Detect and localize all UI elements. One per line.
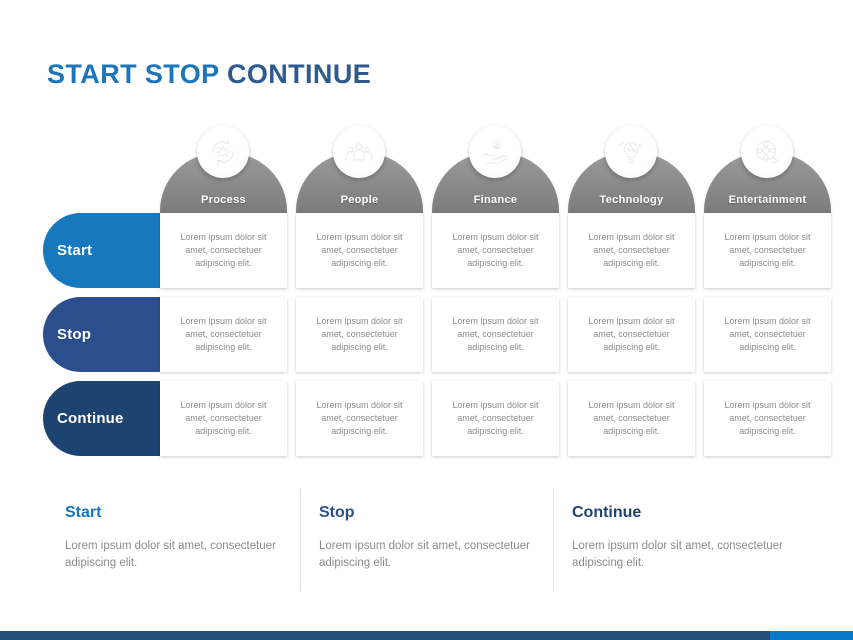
matrix-body: Lorem ipsum dolor sit amet, consectetuer…	[160, 213, 831, 465]
footer-bar-main	[0, 631, 770, 640]
matrix-cell[interactable]: Lorem ipsum dolor sit amet, consectetuer…	[160, 381, 287, 456]
matrix-cell[interactable]: Lorem ipsum dolor sit amet, consectetuer…	[160, 297, 287, 372]
page-title-part-2: CONTINUE	[227, 59, 371, 89]
footer-bar-accent	[770, 631, 853, 640]
matrix-cell-text: Lorem ipsum dolor sit amet, consectetuer…	[715, 231, 820, 270]
summary-column-start: Start Lorem ipsum dolor sit amet, consec…	[47, 490, 300, 590]
matrix-cell[interactable]: Lorem ipsum dolor sit amet, consectetuer…	[568, 381, 695, 456]
matrix-row-stop: Lorem ipsum dolor sit amet, consectetuer…	[160, 297, 831, 372]
matrix-cell-text: Lorem ipsum dolor sit amet, consectetuer…	[715, 315, 820, 354]
row-label-stop[interactable]: Stop	[43, 297, 160, 372]
row-label-start[interactable]: Start	[43, 213, 160, 288]
summary-heading: Continue	[572, 504, 784, 522]
matrix-cell-text: Lorem ipsum dolor sit amet, consectetuer…	[171, 231, 276, 270]
matrix-cell-text: Lorem ipsum dolor sit amet, consectetuer…	[307, 315, 412, 354]
film-reel-icon	[741, 126, 793, 178]
row-label-text: Start	[57, 242, 92, 259]
matrix-cell[interactable]: Lorem ipsum dolor sit amet, consectetuer…	[568, 297, 695, 372]
column-header-label: Finance	[432, 194, 559, 206]
matrix-cell-text: Lorem ipsum dolor sit amet, consectetuer…	[307, 231, 412, 270]
matrix-cell[interactable]: Lorem ipsum dolor sit amet, consectetuer…	[432, 213, 559, 288]
footer-bar	[0, 631, 853, 640]
summary-body: Lorem ipsum dolor sit amet, consectetuer…	[65, 538, 278, 571]
row-label-text: Continue	[57, 410, 124, 427]
matrix-cell[interactable]: Lorem ipsum dolor sit amet, consectetuer…	[432, 297, 559, 372]
row-label-column: Start Stop Continue	[43, 213, 160, 465]
matrix-cell[interactable]: Lorem ipsum dolor sit amet, consectetuer…	[432, 381, 559, 456]
column-header-label: People	[296, 194, 423, 206]
matrix-cell-text: Lorem ipsum dolor sit amet, consectetuer…	[307, 399, 412, 438]
matrix-cell[interactable]: Lorem ipsum dolor sit amet, consectetuer…	[704, 213, 831, 288]
hand-coin-icon	[469, 126, 521, 178]
summary-heading: Start	[65, 504, 278, 522]
column-header-label: Technology	[568, 194, 695, 206]
matrix-cell[interactable]: Lorem ipsum dolor sit amet, consectetuer…	[160, 213, 287, 288]
page-title: START STOP CONTINUE	[47, 59, 371, 90]
matrix-cell-text: Lorem ipsum dolor sit amet, consectetuer…	[443, 399, 548, 438]
row-label-text: Stop	[57, 326, 91, 343]
matrix-row-start: Lorem ipsum dolor sit amet, consectetuer…	[160, 213, 831, 288]
gear-refresh-icon	[197, 126, 249, 178]
matrix-cell-text: Lorem ipsum dolor sit amet, consectetuer…	[443, 315, 548, 354]
row-label-continue[interactable]: Continue	[43, 381, 160, 456]
matrix-cell[interactable]: Lorem ipsum dolor sit amet, consectetuer…	[296, 297, 423, 372]
summary-section: Start Lorem ipsum dolor sit amet, consec…	[47, 490, 807, 590]
matrix-row-continue: Lorem ipsum dolor sit amet, consectetuer…	[160, 381, 831, 456]
summary-column-continue: Continue Lorem ipsum dolor sit amet, con…	[553, 490, 806, 590]
page-title-part-1: START STOP	[47, 59, 227, 89]
summary-body: Lorem ipsum dolor sit amet, consectetuer…	[572, 538, 784, 571]
matrix-cell-text: Lorem ipsum dolor sit amet, consectetuer…	[579, 399, 684, 438]
summary-body: Lorem ipsum dolor sit amet, consectetuer…	[319, 538, 531, 571]
matrix-header-row: Process People	[160, 126, 831, 213]
summary-heading: Stop	[319, 504, 531, 522]
matrix-cell-text: Lorem ipsum dolor sit amet, consectetuer…	[579, 315, 684, 354]
people-group-icon	[333, 126, 385, 178]
lightbulb-gears-icon	[605, 126, 657, 178]
matrix-cell[interactable]: Lorem ipsum dolor sit amet, consectetuer…	[568, 213, 695, 288]
matrix-cell[interactable]: Lorem ipsum dolor sit amet, consectetuer…	[704, 381, 831, 456]
summary-column-stop: Stop Lorem ipsum dolor sit amet, consect…	[300, 490, 553, 590]
matrix-cell[interactable]: Lorem ipsum dolor sit amet, consectetuer…	[296, 213, 423, 288]
column-header-label: Process	[160, 194, 287, 206]
matrix-cell[interactable]: Lorem ipsum dolor sit amet, consectetuer…	[296, 381, 423, 456]
matrix-cell-text: Lorem ipsum dolor sit amet, consectetuer…	[443, 231, 548, 270]
matrix-cell-text: Lorem ipsum dolor sit amet, consectetuer…	[171, 399, 276, 438]
start-stop-continue-matrix: Process People	[43, 126, 833, 471]
matrix-cell-text: Lorem ipsum dolor sit amet, consectetuer…	[715, 399, 820, 438]
column-header-label: Entertainment	[704, 194, 831, 206]
matrix-cell-text: Lorem ipsum dolor sit amet, consectetuer…	[579, 231, 684, 270]
matrix-cell-text: Lorem ipsum dolor sit amet, consectetuer…	[171, 315, 276, 354]
matrix-cell[interactable]: Lorem ipsum dolor sit amet, consectetuer…	[704, 297, 831, 372]
